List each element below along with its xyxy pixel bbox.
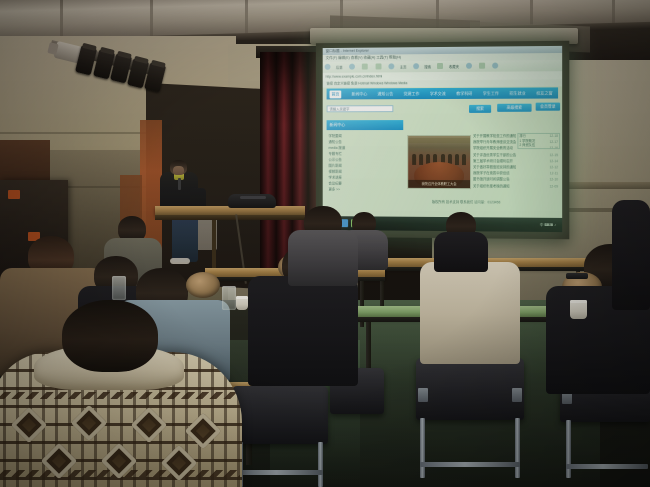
chair-leg (566, 420, 571, 478)
content-photo[interactable]: 我院召开全体教职工大会 (407, 135, 471, 189)
chair-bracket (418, 388, 428, 402)
site-logo[interactable]: 首页 (330, 90, 342, 98)
chair-back[interactable] (232, 386, 328, 444)
chair-leg (420, 418, 425, 478)
favorites-icon[interactable] (437, 63, 443, 69)
refresh-icon[interactable] (375, 63, 381, 69)
sidebar-list[interactable]: 学院要闻 通知公告 media 报道 专题专栏 公示公告 图片新闻 视频新闻 学… (329, 133, 402, 193)
nav-item-alumni[interactable]: 校友之窗 (536, 87, 552, 98)
sidebar-item-more[interactable]: 更多 >> (329, 186, 402, 192)
print-icon[interactable] (493, 63, 499, 69)
photo-caption: 我院召开全体教职工大会 (408, 180, 470, 188)
home-icon[interactable] (388, 63, 394, 69)
chair-leg (318, 442, 323, 487)
search-icon[interactable] (413, 63, 419, 69)
site-navigation[interactable]: 首页 新闻中心 通知公告 党建工作 学术交流 教学科研 学生工作 招生就业 校友… (327, 87, 558, 99)
presenter-shoe (170, 258, 190, 264)
nav-item-party[interactable]: 党建工作 (404, 88, 420, 99)
photo-band (408, 138, 470, 143)
microphone-icon (178, 178, 181, 190)
search-input[interactable]: 请输入关键字 (327, 105, 394, 112)
bag-strap (240, 196, 266, 199)
stop-icon[interactable] (362, 64, 368, 70)
chair-crossbar (420, 462, 520, 467)
news-title[interactable]: 学院组织开展安全教育活动 (473, 146, 513, 150)
news-title[interactable]: 第三届学术研讨会顺利召开 (473, 159, 513, 163)
glass (222, 286, 236, 310)
fur-trim (186, 272, 220, 298)
paper-cup (570, 300, 587, 319)
news-date: 12-09 (549, 183, 558, 189)
person-body (420, 262, 520, 364)
news-title[interactable]: 图书馆开放时间调整公告 (473, 177, 510, 181)
bookmarks-bar[interactable]: 链接 自定义链接 免费 Hotmail Windows Windows Medi… (323, 79, 562, 87)
chair-leg (515, 418, 520, 478)
news-title[interactable]: 关于评选优秀学生干部的公告 (473, 153, 516, 157)
search-button[interactable]: 搜索 (469, 105, 491, 113)
back-label[interactable]: 后退 (336, 65, 343, 70)
nav-item-academic[interactable]: 学术交流 (430, 88, 446, 99)
advanced-search-button[interactable]: 高级搜索 (497, 104, 531, 112)
glass (112, 276, 126, 300)
ranking-box: 排行 1 学院概况 2 师资队伍 (517, 133, 560, 149)
nav-item-admission[interactable]: 招生就业 (509, 88, 525, 99)
chair-bracket (512, 388, 522, 402)
phone-on-table (566, 273, 588, 279)
person-body (248, 276, 358, 386)
chair-crossbar (566, 464, 648, 469)
nav-item-notice[interactable]: 通知公告 (377, 88, 393, 99)
speaker-label-icon (8, 190, 20, 199)
person-body (612, 200, 650, 310)
home-label[interactable]: 主页 (400, 64, 407, 69)
paper-cup (236, 296, 248, 310)
presenter-table-leg (212, 220, 216, 268)
news-title[interactable]: 关于开展教学检查工作的通知 (473, 134, 516, 138)
chair-crossbar (238, 470, 323, 475)
search-label[interactable]: 搜索 (424, 64, 431, 69)
nav-item-students[interactable]: 学生工作 (483, 88, 499, 99)
news-title[interactable]: 关于组织年度考核的通知 (473, 184, 510, 188)
news-title[interactable]: 关于做好寒假值班安排的通知 (473, 165, 516, 169)
favorites-label[interactable]: 收藏夹 (449, 64, 459, 69)
person-body (288, 230, 358, 286)
speaker-cabinet-upper (0, 140, 50, 184)
taskbar-clock: 14:26 (538, 221, 560, 230)
presenter-table-apron (155, 215, 305, 220)
news-title[interactable]: 我院举行青年教师座谈交流会 (473, 140, 516, 144)
presenter-face (173, 166, 184, 175)
site-footer: 版权所有 技术支持 联系我们 访问量：0123456 (382, 199, 552, 207)
forward-icon[interactable] (349, 64, 355, 70)
ranking-row[interactable]: 2 师资队伍 (518, 143, 559, 148)
foreground-person-head (62, 300, 158, 372)
news-title[interactable]: 我院学子在竞赛中获佳绩 (473, 171, 510, 175)
nav-item-news[interactable]: 新闻中心 (351, 88, 367, 99)
sidebar-title: 新闻中心 (327, 120, 404, 130)
member-login-button[interactable]: 会员登录 (536, 103, 560, 111)
news-row[interactable]: 12-09 关于组织年度考核的通知 (473, 183, 558, 190)
projection-screen: 窗口标题 - Internet Explorer 文件(F) 编辑(E) 查看(… (323, 46, 562, 232)
back-icon[interactable] (325, 64, 331, 70)
media-icon[interactable] (466, 63, 472, 69)
person-body (434, 232, 488, 272)
nav-item-teaching[interactable]: 教学科研 (456, 88, 472, 99)
history-icon[interactable] (479, 63, 485, 69)
photo-scene: 窗口标题 - Internet Explorer 文件(F) 编辑(E) 查看(… (0, 0, 650, 487)
chair-back[interactable] (416, 358, 524, 420)
